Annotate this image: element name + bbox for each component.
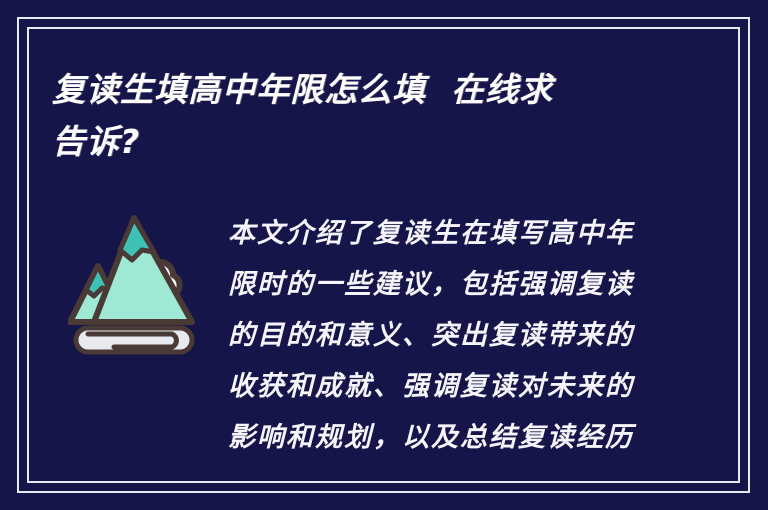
large-mountain-peak [94, 218, 192, 322]
summary-line-3: 的目的和意义、突出复读带来的 [228, 310, 653, 361]
article-card: 复读生填高中年限怎么填 在线求 告诉? [0, 0, 768, 510]
summary-line-5: 影响和规划，以及总结复读经历 [228, 412, 653, 463]
summary-line-4: 收获和成就、强调复读对未来的 [228, 361, 653, 412]
winding-road [76, 328, 192, 352]
article-summary: 本文介绍了复读生在填写高中年 限时的一些建议，包括强调复读 的目的和意义、突出复… [228, 208, 653, 463]
summary-line-2: 限时的一些建议，包括强调复读 [228, 259, 653, 310]
mountain-landscape-icon [68, 210, 200, 355]
title-line-2: 告诉? [52, 116, 672, 168]
title-line-1: 复读生填高中年限怎么填 在线求 [52, 64, 672, 116]
page-title: 复读生填高中年限怎么填 在线求 告诉? [52, 64, 672, 168]
summary-line-1: 本文介绍了复读生在填写高中年 [228, 208, 653, 259]
